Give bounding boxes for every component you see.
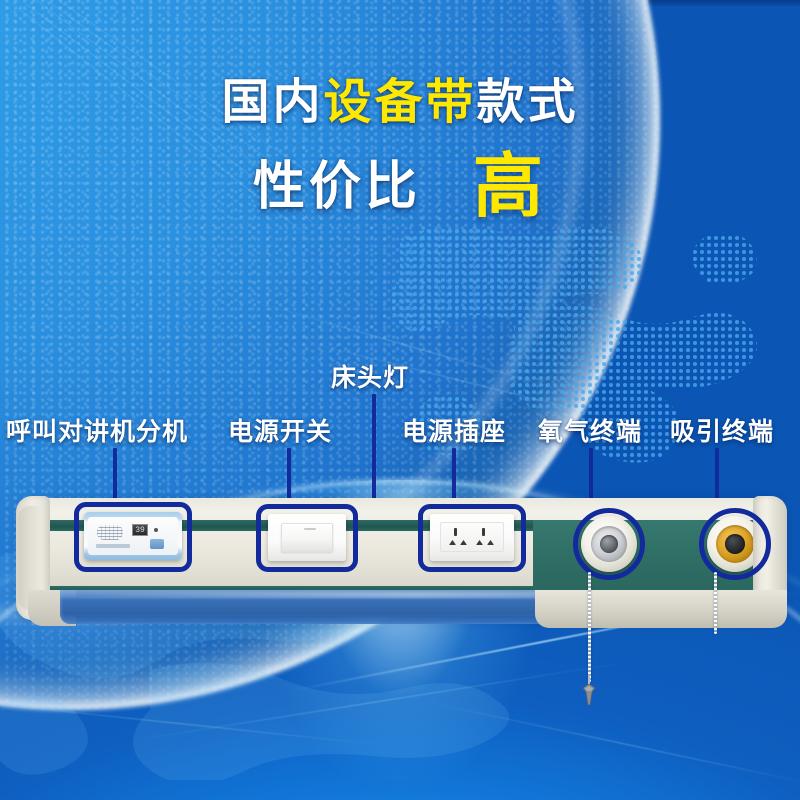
headline-l1-white-prefix: 国内 xyxy=(221,76,323,129)
intercom-call-button[interactable] xyxy=(150,539,164,549)
oxygen-port-core xyxy=(600,535,618,553)
socket-pin-slot xyxy=(487,540,494,545)
headline-l2-white: 性价比 xyxy=(253,158,421,216)
callout-label-intercom: 呼叫对讲机分机 xyxy=(6,412,188,448)
nurse-call-intercom[interactable]: 39 xyxy=(84,512,182,560)
socket-pin-slot xyxy=(454,528,457,536)
callout-label-power-switch: 电源开关 xyxy=(228,412,332,448)
dual-universal-socket[interactable] xyxy=(430,514,514,561)
oxygen-pull-cord[interactable] xyxy=(588,572,591,682)
callout-label-bedside-lamp: 床头灯 xyxy=(331,358,409,394)
suction-pull-cord[interactable] xyxy=(714,572,717,634)
pull-cord-weight[interactable] xyxy=(577,675,601,705)
socket-pin-slot xyxy=(476,540,483,545)
lower-lip-right xyxy=(535,590,787,628)
promo-banner: 国内设备带款式 性价比高 呼叫对讲机分机 电源开关 床头灯 电源插座 氧气终端 … xyxy=(0,0,800,800)
intercom-faceplate: 39 xyxy=(88,517,178,555)
callout-label-suction-terminal: 吸引终端 xyxy=(670,412,774,448)
rocker-paddle[interactable] xyxy=(281,523,333,552)
socket-pin-slot xyxy=(460,540,467,545)
rocker-mark xyxy=(304,528,316,530)
socket-pin-slot xyxy=(449,540,456,545)
callout-label-power-socket: 电源插座 xyxy=(402,412,506,448)
headline-line-1: 国内设备带款式 xyxy=(0,78,800,128)
suction-port-core xyxy=(725,534,745,554)
headline-l1-white-suffix: 款式 xyxy=(477,76,579,129)
headline-block: 国内设备带款式 性价比高 xyxy=(0,78,800,224)
socket-pin-slot xyxy=(482,528,485,536)
dotted-world-map xyxy=(370,200,800,500)
intercom-display: 39 xyxy=(132,524,148,536)
socket-plate xyxy=(440,522,504,552)
headline-l2-yellow: 高 xyxy=(473,147,547,225)
oxygen-gas-outlet[interactable] xyxy=(581,516,637,572)
intercom-brand-text xyxy=(96,544,130,548)
speaker-grille-icon xyxy=(97,525,123,540)
status-led-icon xyxy=(154,528,158,532)
medical-bed-head-unit: 39 xyxy=(20,498,783,648)
callout-label-oxygen-terminal: 氧气终端 xyxy=(538,412,642,448)
power-rocker-switch[interactable] xyxy=(268,514,346,561)
headline-l1-yellow: 设备带 xyxy=(323,76,476,129)
headline-line-2: 性价比高 xyxy=(0,150,800,224)
